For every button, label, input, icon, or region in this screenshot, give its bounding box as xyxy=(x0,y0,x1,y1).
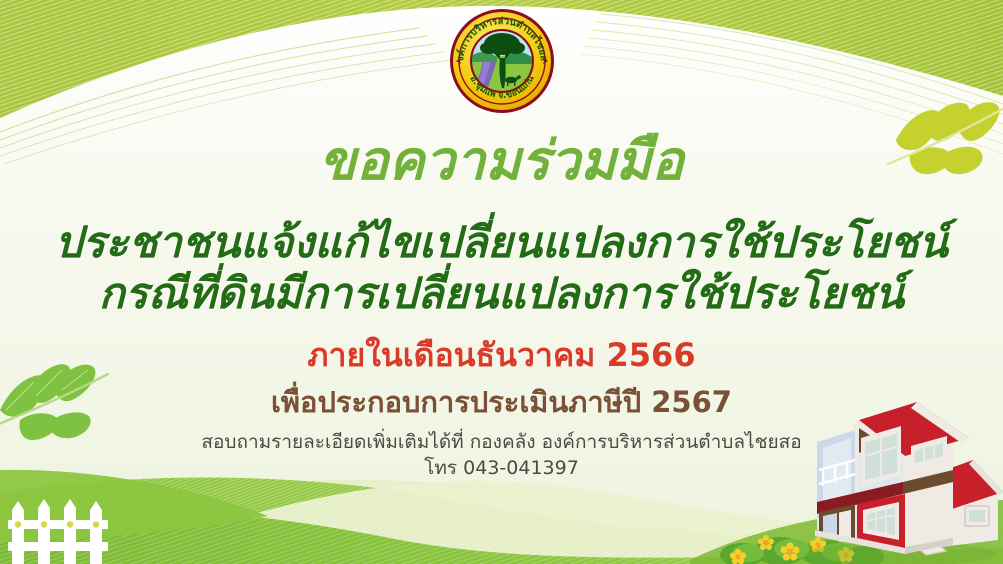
headline-primary: ขอความร่วมมือ xyxy=(0,134,1003,188)
announcement-banner: องค์การบริหารส่วนตำบลไชยสอ อ.ชุมแพ จ.ขอน… xyxy=(0,0,1003,564)
headline-secondary-line1: ประชาชนแจ้งแก้ไขเปลี่ยนแปลงการใช้ประโยชน… xyxy=(0,222,1003,266)
picket-fence-icon xyxy=(8,494,120,564)
headline-secondary-line2: กรณีที่ดินมีการเปลี่ยนแปลงการใช้ประโยชน์ xyxy=(0,273,1003,317)
isometric-house-illustration xyxy=(793,398,1003,564)
deadline-text: ภายในเดือนธันวาคม 2566 xyxy=(0,339,1003,373)
